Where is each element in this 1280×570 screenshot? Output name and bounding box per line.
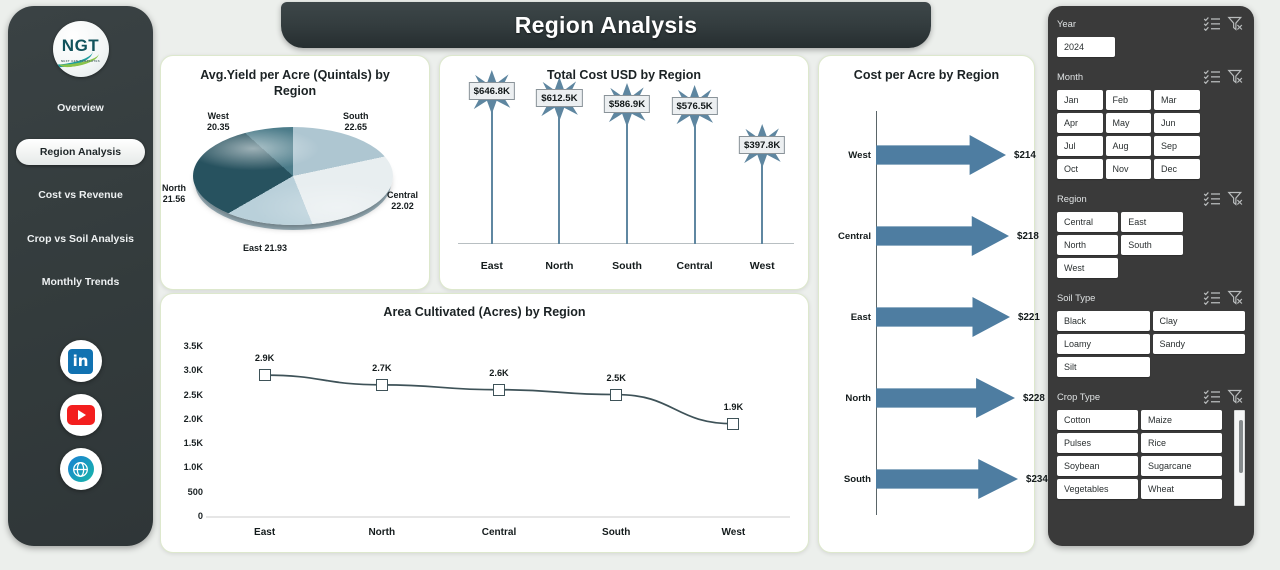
page-title: Region Analysis [515,12,698,39]
sidebar-item-crop-vs-soil-analysis[interactable]: Crop vs Soil Analysis [18,226,143,253]
filter-chip-loamy[interactable]: Loamy [1057,334,1150,354]
filter-chip-sugarcane[interactable]: Sugarcane [1141,456,1222,476]
logo-tagline: NEXT GEN TEMPLATES [61,59,100,63]
arrow-bar[interactable] [876,459,1018,499]
website-button[interactable] [60,448,102,490]
lollipop-chart[interactable]: $646.8KEast$612.5KNorth$586.9KSouth$576.… [440,83,808,279]
filter-group-label: Year [1057,18,1199,29]
youtube-icon [67,405,95,425]
page-header: Region Analysis [281,2,931,48]
y-axis-category-label: Central [825,231,871,242]
pie-slices[interactable] [193,127,393,225]
youtube-button[interactable] [60,394,102,436]
filter-group-soil-type: Soil Type BlackClayLoamySandySilt [1057,290,1245,377]
filter-chip-dec[interactable]: Dec [1154,159,1200,179]
arrow-value-label: $218 [1017,231,1039,242]
chart-title-area-cultivated: Area Cultivated (Acres) by Region [161,304,808,320]
sidebar: NGT NEXT GEN TEMPLATES Overview Region A… [8,6,153,546]
ngt-logo: NGT NEXT GEN TEMPLATES [53,21,109,77]
arrow-value-label: $221 [1018,312,1040,323]
clear-filter-icon[interactable] [1226,389,1245,404]
card-area-cultivated-by-region: Area Cultivated (Acres) by Region 3.5K3.… [160,293,809,553]
pie-label-south: South22.65 [343,111,369,133]
arrow-bar[interactable] [876,216,1009,256]
arrow-value-label: $228 [1023,393,1045,404]
x-axis-category-label: West [726,260,798,272]
pie-chart[interactable]: West20.35 South22.65 Central22.02 North2… [161,103,429,263]
scrollbar-thumb[interactable] [1239,420,1243,473]
filter-chip-jul[interactable]: Jul [1057,136,1103,156]
filter-chip-jan[interactable]: Jan [1057,90,1103,110]
y-axis-category-label: North [825,393,871,404]
pie-label-central: Central22.02 [387,190,418,212]
filter-chip-mar[interactable]: Mar [1154,90,1200,110]
clear-filter-icon[interactable] [1226,69,1245,84]
x-axis-category-label: North [523,260,595,272]
line-data-point[interactable] [727,418,739,430]
card-avg-yield-per-acre: Avg.Yield per Acre (Quintals) by Region … [160,55,430,290]
crop-type-scroll-region: CottonMaizePulsesRiceSoybeanSugarcaneVeg… [1057,410,1245,499]
line-chart[interactable]: 3.5K3.0K2.5K2.0K1.5K1.0K5000 2.9KEast2.7… [161,320,808,542]
x-axis-category-label: Central [482,527,516,538]
y-axis-tick: 3.5K [167,341,203,351]
y-axis-tick: 1.0K [167,462,203,472]
arrow-chart-row[interactable]: West$214 [819,135,1034,175]
multi-select-icon[interactable] [1203,290,1222,305]
filter-chip-vegetables[interactable]: Vegetables [1057,479,1138,499]
linkedin-icon: in [68,349,93,374]
filter-group-label: Region [1057,193,1199,204]
x-axis-category-label: South [602,527,630,538]
filter-group-header: Year [1057,16,1245,31]
arrow-chart-row[interactable]: Central$218 [819,216,1034,256]
lollipop-value-label: $397.8K [739,136,785,154]
filter-chip-north[interactable]: North [1057,235,1118,255]
filter-group-crop-type: Crop Type CottonMaizePulsesRiceSoybeanSu… [1057,389,1245,499]
line-series-path [206,320,792,542]
line-data-point[interactable] [259,369,271,381]
line-value-label: 2.9K [255,353,274,363]
filter-group-header: Region [1057,191,1245,206]
filter-chip-cotton[interactable]: Cotton [1057,410,1138,430]
sidebar-item-monthly-trends[interactable]: Monthly Trends [18,269,143,296]
filter-options: CentralEastNorthSouthWest [1057,212,1245,278]
filter-group-header: Soil Type [1057,290,1245,305]
linkedin-button[interactable]: in [60,340,102,382]
x-axis-category-label: East [254,527,275,538]
filter-chip-may[interactable]: May [1106,113,1152,133]
filter-chip-west[interactable]: West [1057,258,1118,278]
y-axis-category-label: East [825,312,871,323]
website-globe-icon [68,456,94,482]
clear-filter-icon[interactable] [1226,290,1245,305]
arrow-chart-row[interactable]: North$228 [819,378,1034,418]
filter-chip-silt[interactable]: Silt [1057,357,1150,377]
filter-chip-black[interactable]: Black [1057,311,1150,331]
filter-chip-soybean[interactable]: Soybean [1057,456,1138,476]
sidebar-item-region-analysis[interactable]: Region Analysis [16,139,145,166]
filter-options: JanFebMarAprMayJunJulAugSepOctNovDec [1057,90,1245,179]
filter-chip-aug[interactable]: Aug [1106,136,1152,156]
filter-chip-sandy[interactable]: Sandy [1153,334,1246,354]
pie-label-north: North21.56 [162,183,186,205]
clear-filter-icon[interactable] [1226,16,1245,31]
filter-chip-wheat[interactable]: Wheat [1141,479,1222,499]
filter-group-header: Month [1057,69,1245,84]
arrow-chart[interactable]: West$214Central$218East$221North$228Sout… [819,83,1034,533]
line-data-point[interactable] [610,389,622,401]
multi-select-icon[interactable] [1203,389,1222,404]
filter-chip-rice[interactable]: Rice [1141,433,1222,453]
lollipop-value-label: $576.5K [671,97,717,115]
filter-group-header: Crop Type [1057,389,1245,404]
x-axis-category-label: East [456,260,528,272]
filter-chip-pulses[interactable]: Pulses [1057,433,1138,453]
y-axis-tick: 1.5K [167,438,203,448]
filter-options: 2024 [1057,37,1245,57]
arrow-value-label: $234 [1026,474,1048,485]
y-axis-category-label: West [825,150,871,161]
filter-chip-clay[interactable]: Clay [1153,311,1246,331]
x-axis-category-label: West [722,527,746,538]
card-total-cost-by-region: Total Cost USD by Region $646.8KEast$612… [439,55,809,290]
filter-options: BlackClayLoamySandySilt [1057,311,1245,377]
filter-group-label: Crop Type [1057,391,1199,402]
filter-panel: Year 2024Month JanFebMarAprMayJunJulAugS… [1048,6,1254,546]
line-value-label: 1.9K [724,402,743,412]
line-data-point[interactable] [376,379,388,391]
filter-group-label: Month [1057,71,1199,82]
filter-chip-central[interactable]: Central [1057,212,1118,232]
filter-group-label: Soil Type [1057,292,1199,303]
lollipop-value-label: $586.9K [604,95,650,113]
line-data-point[interactable] [493,384,505,396]
y-axis-tick: 2.0K [167,414,203,424]
filter-chip-nov[interactable]: Nov [1106,159,1152,179]
clear-filter-icon[interactable] [1226,191,1245,206]
chart-title-avg-yield: Avg.Yield per Acre (Quintals) by Region [161,67,429,99]
lollipop-stem [491,92,493,244]
arrow-bar[interactable] [876,378,1015,418]
multi-select-icon[interactable] [1203,16,1222,31]
filter-group-region: Region CentralEastNorthSouthWest [1057,191,1245,278]
arrow-chart-row[interactable]: South$234 [819,459,1034,499]
line-value-label: 2.5K [606,373,625,383]
line-value-label: 2.6K [489,368,508,378]
arrow-value-label: $214 [1014,150,1036,161]
line-plot-area[interactable]: 2.9KEast2.7KNorth2.6KCentral2.5KSouth1.9… [206,320,790,542]
social-links: in [8,340,153,490]
filter-group-month: Month JanFebMarAprMayJunJulAugSepOctNovD… [1057,69,1245,179]
y-axis-tick: 500 [167,487,203,497]
filter-chip-feb[interactable]: Feb [1106,90,1152,110]
filter-chip-jun[interactable]: Jun [1154,113,1200,133]
x-axis-category-label: North [368,527,395,538]
y-axis-tick-labels: 3.5K3.0K2.5K2.0K1.5K1.0K5000 [167,320,203,542]
y-axis-tick: 2.5K [167,390,203,400]
filter-chip-maize[interactable]: Maize [1141,410,1222,430]
filter-group-year: Year 2024 [1057,16,1245,57]
lollipop-value-label: $612.5K [536,89,582,107]
pie-label-east: East 21.93 [243,243,287,254]
y-axis-tick: 0 [167,511,203,521]
arrow-bar[interactable] [876,297,1010,337]
crop-type-scrollbar[interactable] [1234,410,1245,506]
line-value-label: 2.7K [372,363,391,373]
sidebar-item-overview[interactable]: Overview [18,95,143,122]
filter-chip-south[interactable]: South [1121,235,1182,255]
x-axis-category-label: South [591,260,663,272]
sidebar-item-cost-vs-revenue[interactable]: Cost vs Revenue [18,182,143,209]
y-axis-category-label: South [825,474,871,485]
multi-select-icon[interactable] [1203,69,1222,84]
logo-container: NGT NEXT GEN TEMPLATES [8,21,153,77]
multi-select-icon[interactable] [1203,191,1222,206]
filter-chip-east[interactable]: East [1121,212,1182,232]
arrow-bar[interactable] [876,135,1006,175]
chart-title-cost-per-acre: Cost per Acre by Region [819,67,1034,83]
filter-options: CottonMaizePulsesRiceSoybeanSugarcaneVeg… [1057,410,1239,499]
x-axis-category-label: Central [659,260,731,272]
y-axis-tick: 3.0K [167,365,203,375]
filter-chip-2024[interactable]: 2024 [1057,37,1115,57]
pie-label-west: West20.35 [207,111,230,133]
card-cost-per-acre-by-region: Cost per Acre by Region West$214Central$… [818,55,1035,553]
filter-chip-sep[interactable]: Sep [1154,136,1200,156]
filter-chip-apr[interactable]: Apr [1057,113,1103,133]
lollipop-value-label: $646.8K [469,82,515,100]
filter-chip-oct[interactable]: Oct [1057,159,1103,179]
logo-text: NGT [62,37,99,54]
arrow-chart-row[interactable]: East$221 [819,297,1034,337]
